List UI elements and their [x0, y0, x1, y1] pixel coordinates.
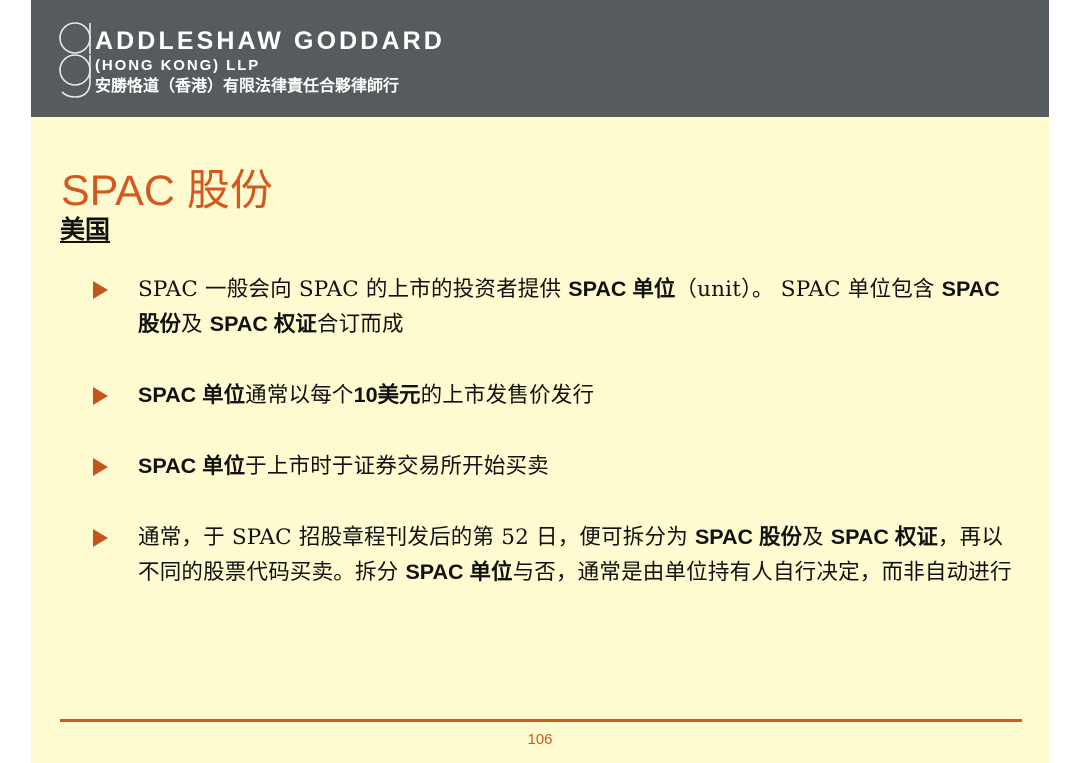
bullet-text: 通常，于 SPAC 招股章程刊发后的第 52 日，便可拆分为 SPAC 股份及 … [138, 520, 1020, 590]
brand-wordmark: ADDLESHAW GODDARD (HONG KONG) LLP 安勝恪道（香… [95, 27, 525, 96]
bullet-text: SPAC 单位于上市时于证券交易所开始买卖 [138, 449, 1020, 484]
slide-header-band: ADDLESHAW GODDARD (HONG KONG) LLP 安勝恪道（香… [31, 0, 1049, 117]
brand-chinese-name-line: 安勝恪道（香港）有限法律責任合夥律師行 [95, 76, 525, 96]
footer-divider [60, 719, 1022, 722]
brand-name-line: ADDLESHAW GODDARD [95, 27, 525, 55]
section-heading-united-states: 美国 [60, 215, 110, 245]
bullet-list: SPAC 一般会向 SPAC 的上市的投资者提供 SPAC 单位（unit）。 … [60, 272, 1020, 626]
list-item: SPAC 单位于上市时于证券交易所开始买卖 [60, 449, 1020, 484]
triangle-bullet-icon [93, 529, 108, 547]
slide-title: SPAC 股份 [61, 165, 273, 217]
page-number: 106 [31, 730, 1049, 750]
list-item: 通常，于 SPAC 招股章程刊发后的第 52 日，便可拆分为 SPAC 股份及 … [60, 520, 1020, 590]
presentation-slide: ADDLESHAW GODDARD (HONG KONG) LLP 安勝恪道（香… [31, 0, 1049, 763]
bullet-text: SPAC 一般会向 SPAC 的上市的投资者提供 SPAC 单位（unit）。 … [138, 272, 1020, 342]
bullet-text: SPAC 单位通常以每个10美元的上市发售价发行 [138, 378, 1020, 413]
triangle-bullet-icon [93, 387, 108, 405]
list-item: SPAC 单位通常以每个10美元的上市发售价发行 [60, 378, 1020, 413]
brand-entity-line: (HONG KONG) LLP [95, 56, 525, 75]
triangle-bullet-icon [93, 281, 108, 299]
triangle-bullet-icon [93, 458, 108, 476]
list-item: SPAC 一般会向 SPAC 的上市的投资者提供 SPAC 单位（unit）。 … [60, 272, 1020, 342]
